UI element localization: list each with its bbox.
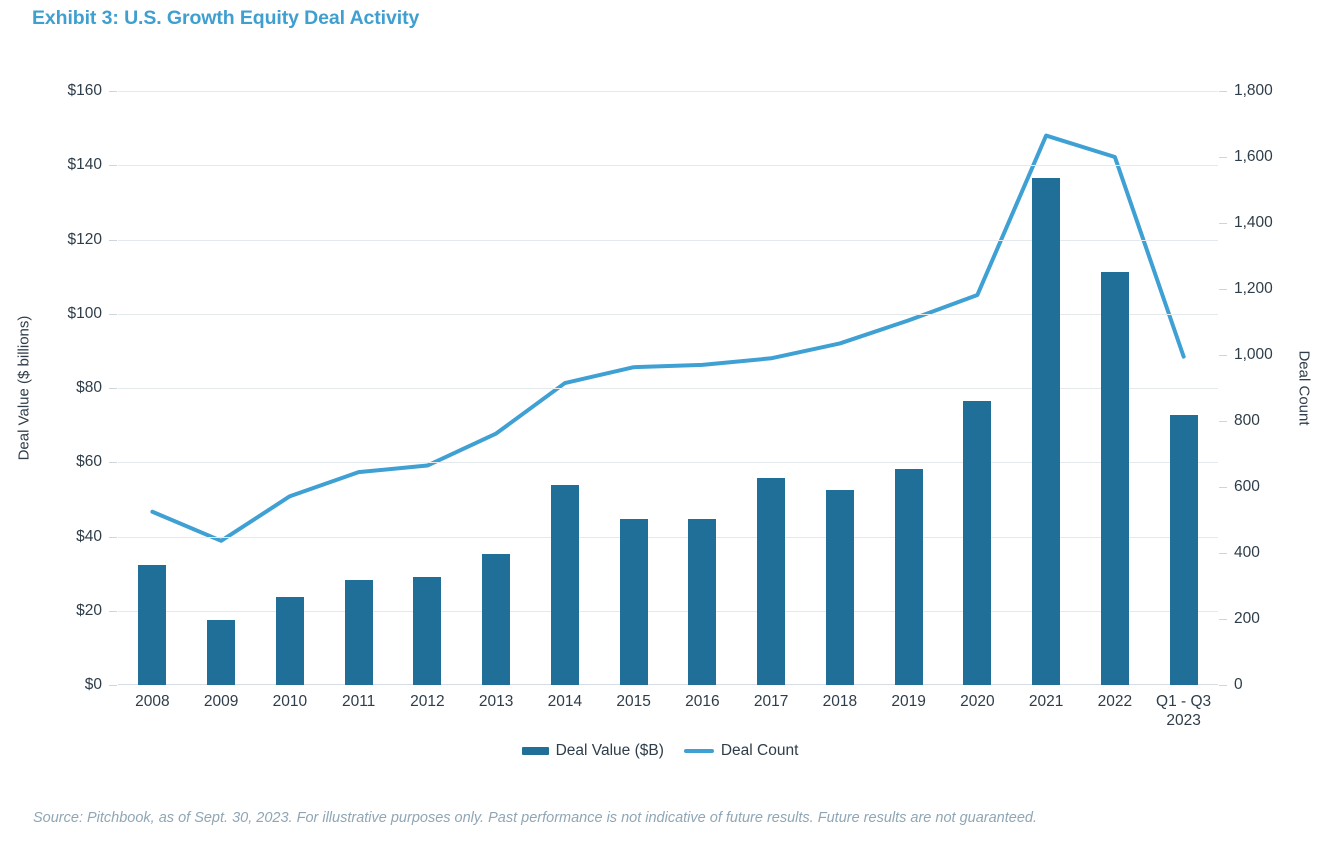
bar (413, 577, 441, 685)
deal-count-line (152, 136, 1183, 541)
gridline (118, 165, 1218, 166)
x-axis-tick-label: 2020 (960, 692, 994, 711)
bar (963, 401, 991, 685)
y2-axis-tick-mark (1219, 223, 1227, 224)
bar (276, 597, 304, 685)
x-axis-tick-label: 2022 (1098, 692, 1132, 711)
y-axis-tick-label: $100 (68, 305, 102, 323)
y2-axis-tick-label: 400 (1234, 544, 1260, 562)
x-axis-tick-label: 2009 (204, 692, 238, 711)
bar (207, 620, 235, 685)
legend-label-deal-count: Deal Count (721, 742, 799, 760)
gridline (118, 91, 1218, 92)
source-note: Source: Pitchbook, as of Sept. 30, 2023.… (33, 810, 1037, 826)
x-axis-tick-label: 2021 (1029, 692, 1063, 711)
bar (620, 519, 648, 685)
y-axis-tick-mark (109, 91, 117, 92)
y2-axis-tick-mark (1219, 553, 1227, 554)
x-axis-tick-label: 2011 (342, 692, 375, 711)
y-axis-tick-label: $80 (76, 379, 102, 397)
y-axis-tick-mark (109, 462, 117, 463)
plot-area (118, 91, 1218, 685)
y2-axis-tick-label: 600 (1234, 478, 1260, 496)
y2-axis-tick-label: 0 (1234, 676, 1243, 694)
y2-axis-tick-mark (1219, 289, 1227, 290)
y-axis-tick-label: $40 (76, 528, 102, 546)
legend-label-deal-value: Deal Value ($B) (556, 742, 664, 760)
y-axis-tick-mark (109, 537, 117, 538)
y-axis-tick-label: $60 (76, 453, 102, 471)
y-axis-tick-mark (109, 611, 117, 612)
y2-axis-tick-label: 1,000 (1234, 346, 1273, 364)
legend-item-deal-count[interactable]: Deal Count (684, 742, 799, 760)
y2-axis-tick-label: 1,200 (1234, 280, 1273, 298)
y-axis-tick-mark (109, 314, 117, 315)
y2-axis-tick-label: 800 (1234, 412, 1260, 430)
bar (757, 478, 785, 685)
bar (482, 554, 510, 685)
left-axis-title-wrap: Deal Value ($ billions) (0, 91, 30, 685)
y2-axis-tick-label: 1,800 (1234, 82, 1273, 100)
x-axis-tick-label: 2016 (685, 692, 719, 711)
page-title: Exhibit 3: U.S. Growth Equity Deal Activ… (32, 7, 419, 30)
y-axis-tick-mark (109, 685, 117, 686)
x-axis-tick-label: Q1 - Q3 2023 (1156, 692, 1211, 730)
bar (1032, 178, 1060, 685)
y2-axis-tick-mark (1219, 685, 1227, 686)
left-axis-title: Deal Value ($ billions) (16, 258, 33, 518)
x-axis-tick-label: 2014 (548, 692, 582, 711)
y-axis-tick-mark (109, 388, 117, 389)
x-axis-tick-label: 2013 (479, 692, 513, 711)
y2-axis-tick-mark (1219, 421, 1227, 422)
y-axis-tick-label: $20 (76, 602, 102, 620)
bar (138, 565, 166, 685)
bar-swatch-icon (522, 747, 549, 755)
y2-axis-tick-label: 1,400 (1234, 214, 1273, 232)
bar (551, 485, 579, 685)
legend: Deal Value ($B) Deal Count (0, 742, 1320, 760)
y-axis-tick-label: $120 (68, 231, 102, 249)
x-axis-tick-label: 2018 (823, 692, 857, 711)
chart-container: Exhibit 3: U.S. Growth Equity Deal Activ… (0, 0, 1320, 790)
bar (826, 490, 854, 685)
y-axis-tick-mark (109, 165, 117, 166)
x-axis-tick-label: 2012 (410, 692, 444, 711)
x-axis-tick-label: 2008 (135, 692, 169, 711)
right-axis-title-wrap: Deal Count (1290, 91, 1320, 685)
legend-item-deal-value[interactable]: Deal Value ($B) (522, 742, 664, 760)
bar (688, 519, 716, 685)
y2-axis-tick-label: 200 (1234, 610, 1260, 628)
x-axis-tick-label: 2010 (273, 692, 307, 711)
y2-axis-tick-mark (1219, 91, 1227, 92)
bar (1170, 415, 1198, 685)
y2-axis-tick-mark (1219, 355, 1227, 356)
x-axis-tick-label: 2017 (754, 692, 788, 711)
right-axis-title: Deal Count (1296, 258, 1313, 518)
y-axis-tick-mark (109, 240, 117, 241)
bar (345, 580, 373, 685)
x-axis-tick-label: 2015 (616, 692, 650, 711)
bar (895, 469, 923, 685)
y2-axis-tick-mark (1219, 487, 1227, 488)
y2-axis-tick-mark (1219, 619, 1227, 620)
y-axis-tick-label: $140 (68, 156, 102, 174)
bar (1101, 272, 1129, 685)
line-swatch-icon (684, 749, 714, 753)
y-axis-tick-label: $0 (85, 676, 102, 694)
y-axis-tick-label: $160 (68, 82, 102, 100)
y2-axis-tick-label: 1,600 (1234, 148, 1273, 166)
y2-axis-tick-mark (1219, 157, 1227, 158)
x-axis-tick-label: 2019 (891, 692, 925, 711)
